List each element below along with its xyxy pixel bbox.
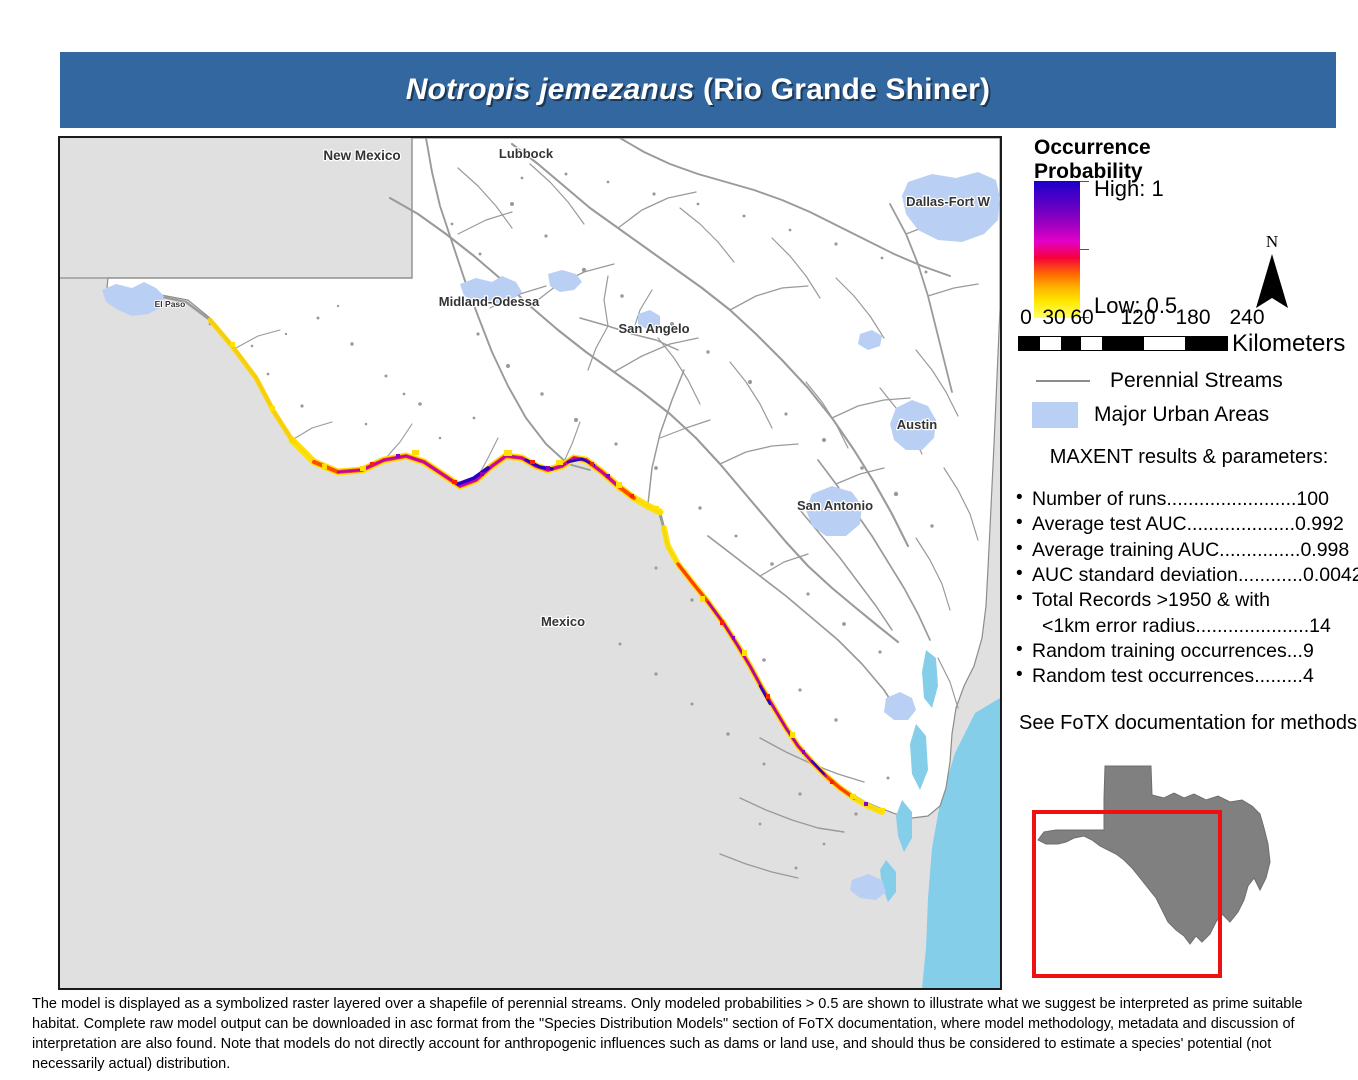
maxent-item-number-of-runs: Number of runs........................10… [1014,487,1358,512]
legend-row-major-urban-areas: Major Urban Areas [1032,398,1352,432]
maxent-item-error-radius: <1km error radius.....................14 [1014,614,1358,639]
scale-tick-240: 240 [1229,306,1264,330]
scale-tick-60: 60 [1070,306,1093,330]
north-arrow-letter: N [1237,233,1307,250]
gradient-ramp-bar [1034,181,1080,318]
page-title: Notropis jemezanus (Rio Grande Shiner) [406,73,990,107]
maxent-label: Average training AUC [1032,539,1219,561]
legend-label-major-urban-areas: Major Urban Areas [1094,403,1269,427]
scientific-name: Notropis jemezanus [406,73,695,106]
scale-tick-180: 180 [1175,306,1210,330]
figure-caption: The model is displayed as a symbolized r… [32,994,1322,1074]
map-graphic: New Mexico Lubbock Dallas-Fort W El Paso… [60,138,1000,988]
maxent-item-random-training-occurrences: Random training occurrences...9 [1014,639,1358,664]
maxent-list: Number of runs........................10… [1010,487,1358,690]
inset-graphic [1016,750,1346,990]
maxent-dots: ..................... [1195,615,1309,637]
maxent-dots: .................... [1187,513,1295,535]
maxent-item-total-records: Total Records >1950 & with [1014,588,1358,613]
stream-line-swatch-icon [1032,374,1094,388]
maxent-label: <1km error radius [1042,615,1195,637]
map-label-mexico: Mexico [541,614,585,629]
maxent-dots: ... [1287,640,1303,662]
legend-label-perennial-streams: Perennial Streams [1110,369,1283,393]
map-label-new-mexico: New Mexico [323,148,400,163]
maxent-label: Random training occurrences [1032,640,1287,662]
urban-area-swatch-icon [1032,402,1078,428]
map-label-austin: Austin [897,417,938,432]
maxent-value: 0.998 [1300,539,1349,561]
maxent-label: AUC standard deviation [1032,564,1238,586]
maxent-item-auc-standard-deviation: AUC standard deviation............0.0042 [1014,563,1358,588]
scale-bar-ticks: 0 30 60 120 180 240 [1018,306,1250,334]
maxent-value: 100 [1296,488,1329,510]
scale-tick-120: 120 [1120,306,1155,330]
probability-ramp: High: 1 Low: 0.5 N [1034,181,1334,326]
scale-tick-30: 30 [1042,306,1065,330]
maxent-value: 0.0042 [1303,564,1358,586]
scale-tick-0: 0 [1020,306,1032,330]
legend-entries: Perennial Streams Major Urban Areas [1032,364,1352,432]
north-arrow-icon [1255,254,1289,310]
map-poster: Notropis jemezanus (Rio Grande Shiner) [0,0,1358,1080]
inset-texas-shape [1038,766,1270,944]
legend-title-line1: Occurrence [1034,136,1224,160]
maxent-label: Average test AUC [1032,513,1187,535]
maxent-value: 4 [1303,665,1314,687]
ramp-tick-high [1080,181,1089,182]
locator-inset-map [1016,750,1346,990]
maxent-value: 0.992 [1295,513,1344,535]
map-label-el-paso: El Paso [155,299,186,309]
maxent-item-random-test-occurrences: Random test occurrences.........4 [1014,664,1358,689]
maxent-documentation-note: See FoTX documentation for methods [1010,712,1358,735]
maxent-label: Total Records >1950 & with [1032,589,1270,611]
maxent-dots: ........................ [1166,488,1296,510]
title-banner: Notropis jemezanus (Rio Grande Shiner) [60,52,1336,128]
map-label-dallas-fort-worth: Dallas-Fort W [906,194,991,209]
map-label-midland-odessa: Midland-Odessa [439,294,540,309]
maxent-item-average-training-auc: Average training AUC...............0.998 [1014,538,1358,563]
ramp-tick-mid [1080,249,1089,250]
scale-bar-blocks [1018,336,1228,351]
map-label-san-antonio: San Antonio [797,498,873,513]
maxent-value: 9 [1303,640,1314,662]
maxent-dots: ............ [1238,564,1303,586]
map-label-san-angelo: San Angelo [618,321,689,336]
scale-bar: 0 30 60 120 180 240 Kilometers [1018,306,1358,351]
maxent-value: 14 [1309,615,1331,637]
maxent-item-average-test-auc: Average test AUC....................0.99… [1014,512,1358,537]
scale-bar-units: Kilometers [1232,330,1345,358]
legend-row-perennial-streams: Perennial Streams [1032,364,1352,398]
maxent-dots: ............... [1219,539,1300,561]
maxent-label: Random test occurrences [1032,665,1254,687]
maxent-label: Number of runs [1032,488,1166,510]
maxent-heading: MAXENT results & parameters: [1020,446,1358,469]
common-name: (Rio Grande Shiner) [703,73,990,106]
map-canvas[interactable]: New Mexico Lubbock Dallas-Fort W El Paso… [58,136,1002,990]
maxent-dots: ......... [1254,665,1303,687]
maxent-results: MAXENT results & parameters: Number of r… [1010,446,1358,735]
ramp-high-label: High: 1 [1094,176,1164,202]
map-legend-panel: Occurrence Probability High: 1 Low: 0.5 … [1010,136,1358,996]
map-label-lubbock: Lubbock [499,146,554,161]
